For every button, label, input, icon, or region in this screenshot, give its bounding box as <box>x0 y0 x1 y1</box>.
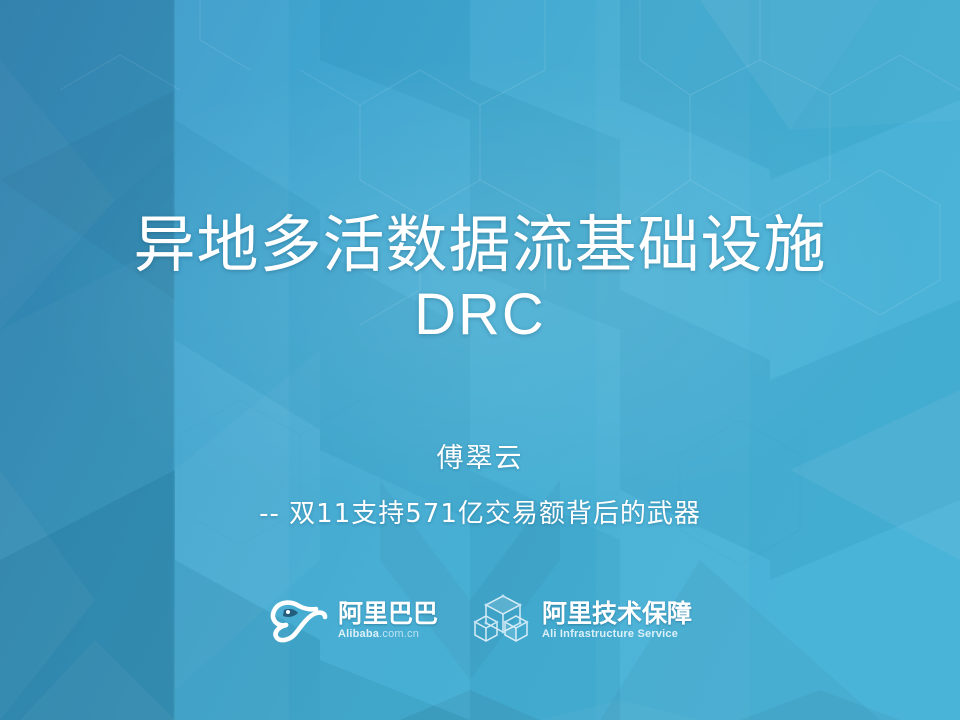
logo-alibaba-en-domain: .com.cn <box>379 628 419 640</box>
author-name: 傅翠云 <box>0 436 960 475</box>
title-block: 异地多活数据流基础设施 DRC <box>0 212 960 348</box>
logo-alibaba-en: Alibaba.com.cn <box>338 629 438 640</box>
logo-ais-text: 阿里技术保障 Ali Infrastructure Service <box>542 601 692 640</box>
alibaba-swirl-icon <box>268 596 330 644</box>
title-slide: 异地多活数据流基础设施 DRC 傅翠云 -- 双11支持571亿交易额背后的武器 <box>0 0 960 720</box>
logo-row: 阿里巴巴 Alibaba.com.cn <box>0 592 960 648</box>
page-title-line2: DRC <box>0 283 960 348</box>
logo-ais-en: Ali Infrastructure Service <box>542 629 692 640</box>
isometric-cube-icon <box>472 592 534 648</box>
logo-alibaba: 阿里巴巴 Alibaba.com.cn <box>268 596 438 644</box>
page-title-line1: 异地多活数据流基础设施 <box>0 212 960 279</box>
logo-alibaba-cn: 阿里巴巴 <box>338 601 438 626</box>
logo-ali-infrastructure-service: 阿里技术保障 Ali Infrastructure Service <box>472 592 692 648</box>
logo-alibaba-text: 阿里巴巴 Alibaba.com.cn <box>338 601 438 640</box>
subtitle-tagline: -- 双11支持571亿交易额背后的武器 <box>0 493 960 530</box>
logo-alibaba-en-bold: Alibaba <box>338 628 379 640</box>
subtitle-block: 傅翠云 -- 双11支持571亿交易额背后的武器 <box>0 436 960 530</box>
logo-ais-cn: 阿里技术保障 <box>542 601 692 626</box>
